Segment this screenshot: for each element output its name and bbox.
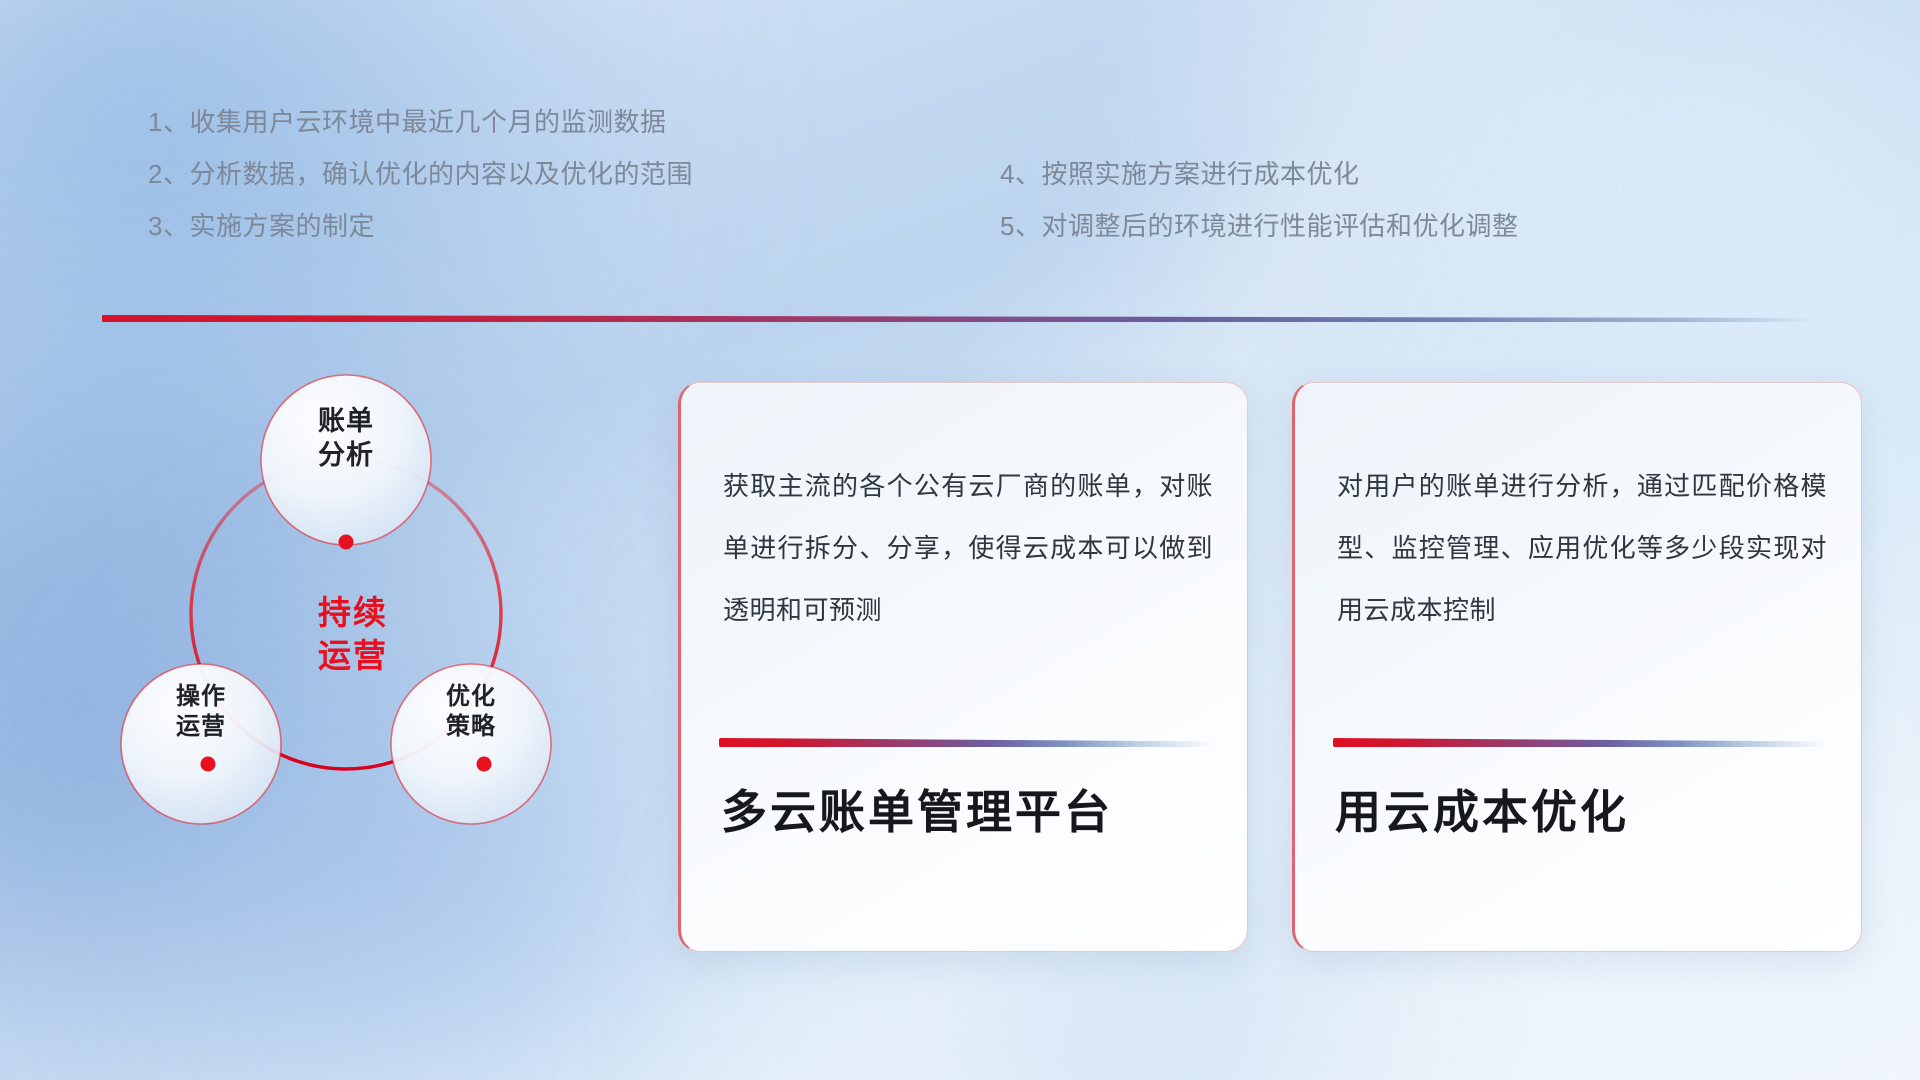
venn-label-operations-line1: 操作 bbox=[126, 682, 276, 712]
venn-label-operations-line2: 运营 bbox=[126, 712, 276, 742]
venn-label-bill-analysis-line1: 账单 bbox=[266, 404, 426, 438]
venn-diagram: 账单 分析 操作 运营 优化 策略 持续 运营 bbox=[96, 352, 616, 912]
info-card-multicloud-billing-divider bbox=[719, 738, 1213, 747]
venn-center-label: 持续 运营 bbox=[268, 592, 438, 678]
venn-label-bill-analysis: 账单 分析 bbox=[266, 404, 426, 472]
info-card-multicloud-billing-title: 多云账单管理平台 bbox=[721, 783, 1217, 843]
venn-label-operations: 操作 运营 bbox=[126, 682, 276, 742]
venn-node-dot-top bbox=[339, 535, 354, 550]
venn-node-dot-bottom-right bbox=[477, 757, 492, 772]
venn-label-optimization-strategy-line1: 优化 bbox=[396, 682, 546, 712]
info-card-cost-optimization[interactable]: 对用户的账单进行分析，通过匹配价格模型、监控管理、应用优化等多少段实现对用云成本… bbox=[1292, 382, 1862, 952]
venn-node-dot-bottom-left bbox=[201, 757, 216, 772]
info-card-multicloud-billing[interactable]: 获取主流的各个公有云厂商的账单，对账单进行拆分、分享，使得云成本可以做到透明和可… bbox=[678, 382, 1248, 952]
process-step-5: 5、对调整后的环境进行性能评估和优化调整 bbox=[1000, 200, 1518, 252]
process-steps-left-column: 1、收集用户云环境中最近几个月的监测数据 2、分析数据，确认优化的内容以及优化的… bbox=[148, 96, 693, 252]
process-step-1: 1、收集用户云环境中最近几个月的监测数据 bbox=[148, 96, 693, 148]
venn-label-optimization-strategy: 优化 策略 bbox=[396, 682, 546, 742]
venn-center-label-line2: 运营 bbox=[268, 635, 438, 678]
process-step-3: 3、实施方案的制定 bbox=[148, 200, 693, 252]
venn-label-optimization-strategy-line2: 策略 bbox=[396, 712, 546, 742]
process-steps-right-column: 4、按照实施方案进行成本优化 5、对调整后的环境进行性能评估和优化调整 bbox=[1000, 148, 1518, 252]
info-card-multicloud-billing-body: 获取主流的各个公有云厂商的账单，对账单进行拆分、分享，使得云成本可以做到透明和可… bbox=[723, 455, 1213, 641]
process-step-2: 2、分析数据，确认优化的内容以及优化的范围 bbox=[148, 148, 693, 200]
venn-label-bill-analysis-line2: 分析 bbox=[266, 438, 426, 472]
info-card-cost-optimization-title: 用云成本优化 bbox=[1335, 783, 1831, 843]
info-card-cost-optimization-body: 对用户的账单进行分析，通过匹配价格模型、监控管理、应用优化等多少段实现对用云成本… bbox=[1337, 455, 1827, 641]
info-card-cost-optimization-divider bbox=[1333, 738, 1827, 747]
venn-center-label-line1: 持续 bbox=[268, 592, 438, 635]
process-step-4: 4、按照实施方案进行成本优化 bbox=[1000, 148, 1518, 200]
